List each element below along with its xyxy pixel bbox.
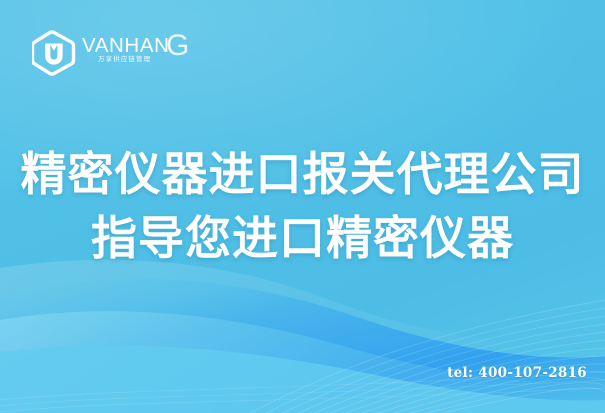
wordmark-subtitle: 万享供应链管理 [98, 56, 151, 63]
contact-phone[interactable]: tel: 400-107-2816 [447, 365, 587, 381]
headline-line-1: 精密仪器进口报关代理公司 [0, 146, 605, 204]
brand-wordmark: VANHAN G 万享供应链管理 [82, 30, 194, 76]
headline-line-2: 指导您进口精密仪器 [0, 210, 605, 268]
promo-banner: VANHAN G 万享供应链管理 精密仪器进口报关代理公司 指导您进口精密仪器 … [0, 0, 605, 413]
wordmark-text: VANHAN [82, 36, 170, 57]
headline-block: 精密仪器进口报关代理公司 指导您进口精密仪器 [0, 146, 605, 268]
brand-logo[interactable]: VANHAN G 万享供应链管理 [32, 29, 194, 77]
wordmark-g-letter: G [166, 31, 189, 61]
hexagon-u-logo-icon [32, 30, 76, 76]
